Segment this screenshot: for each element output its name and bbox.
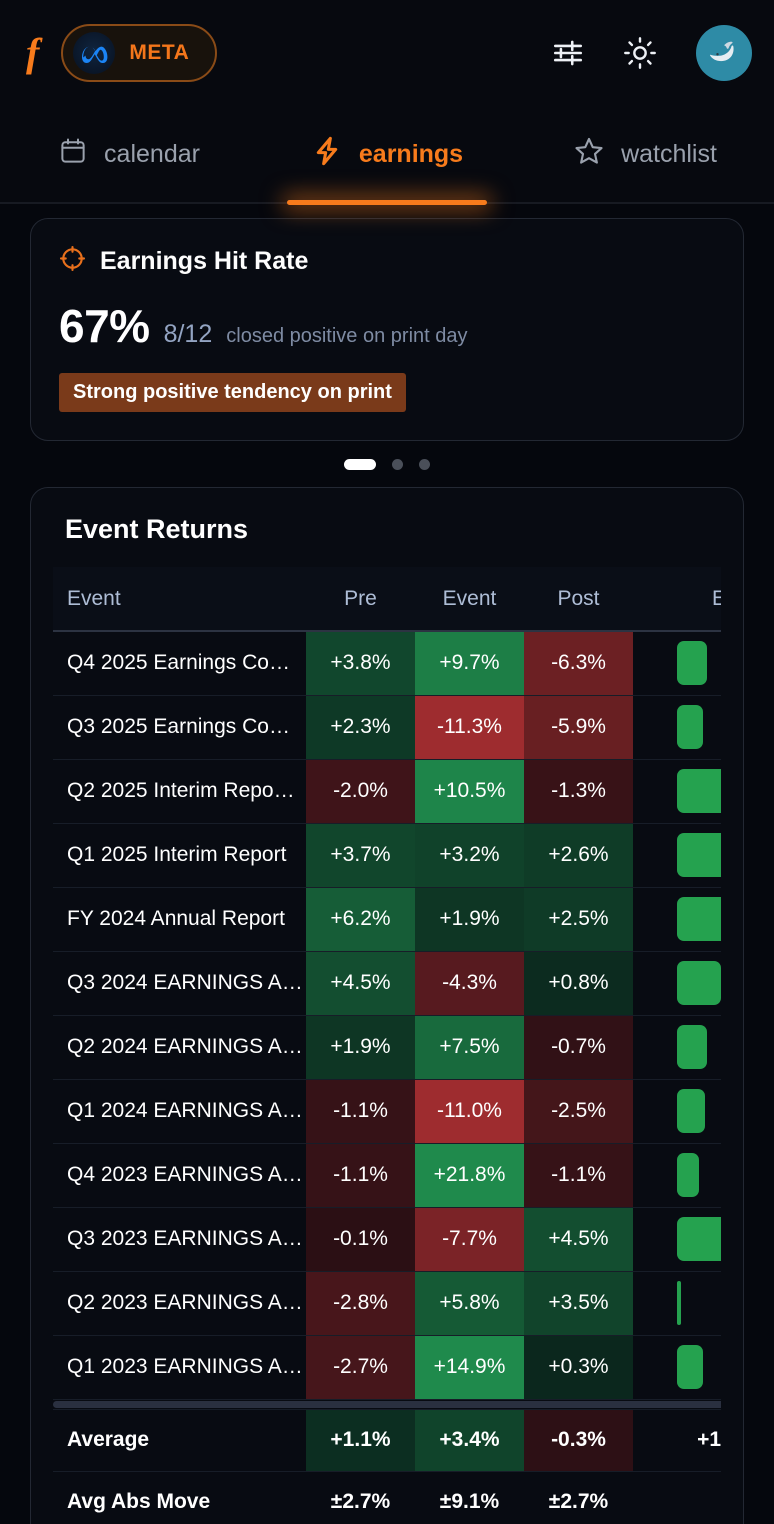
cell-post: -1.1% [524, 1143, 633, 1207]
cell-event-name: Q3 2023 EARNINGS A… [53, 1207, 306, 1271]
cell-pre: +1.9% [306, 1015, 415, 1079]
cell-event-return: +3.2% [415, 823, 524, 887]
col-header-event[interactable]: Event [53, 567, 306, 631]
horizontal-scrollbar-thumb[interactable] [53, 1401, 721, 1408]
cell-post: +0.3% [524, 1335, 633, 1399]
table-row[interactable]: Q2 2023 EARNINGS A…-2.8%+5.8%+3.5% [53, 1271, 721, 1335]
eps-bar [677, 1345, 703, 1389]
cell-post: +4.5% [524, 1207, 633, 1271]
cell-pre: -1.1% [306, 1079, 415, 1143]
cell-event-return: -4.3% [415, 951, 524, 1015]
cell-event-return: -11.3% [415, 695, 524, 759]
carousel-dot-1[interactable] [344, 459, 376, 470]
target-crosshair-icon [59, 245, 86, 277]
cell-event-return: +5.8% [415, 1271, 524, 1335]
cell-eps-bar [633, 951, 721, 1015]
col-header-eps[interactable]: EPS [633, 567, 721, 631]
cell-event-name: Q4 2023 EARNINGS A… [53, 1143, 306, 1207]
cell-event-return: -11.0% [415, 1079, 524, 1143]
cell-eps-bar [633, 1207, 721, 1271]
cell-eps-bar [633, 1079, 721, 1143]
eps-bar [677, 769, 721, 813]
carousel-dots [30, 441, 744, 487]
main-content: Earnings Hit Rate 67% 8/12 closed positi… [0, 204, 774, 1524]
summary-event-return: ±9.1% [415, 1471, 524, 1524]
horizontal-scrollbar[interactable] [53, 1399, 721, 1409]
cell-post: +3.5% [524, 1271, 633, 1335]
table-row[interactable]: Q3 2023 EARNINGS A…-0.1%-7.7%+4.5% [53, 1207, 721, 1271]
cell-post: -2.5% [524, 1079, 633, 1143]
hit-rate-stat-row: 67% 8/12 closed positive on print day [59, 299, 715, 353]
summary-post: -0.3% [524, 1409, 633, 1471]
table-row[interactable]: Q4 2023 EARNINGS A…-1.1%+21.8%-1.1% [53, 1143, 721, 1207]
cell-event-return: +7.5% [415, 1015, 524, 1079]
cell-event-name: Q2 2023 EARNINGS A… [53, 1271, 306, 1335]
cell-pre: -0.1% [306, 1207, 415, 1271]
cell-event-return: +21.8% [415, 1143, 524, 1207]
sun-icon[interactable] [620, 33, 660, 73]
cell-event-return: +14.9% [415, 1335, 524, 1399]
meta-infinity-icon [73, 32, 115, 74]
tab-earnings[interactable]: earnings [258, 106, 516, 202]
table-scroll-separator [53, 1399, 721, 1409]
summary-eps: +12.6% [633, 1409, 721, 1471]
cell-eps-bar [633, 759, 721, 823]
summary-post: ±2.7% [524, 1471, 633, 1524]
hit-rate-description: closed positive on print day [226, 325, 467, 348]
col-header-pre[interactable]: Pre [306, 567, 415, 631]
cell-event-name: Q1 2024 EARNINGS A… [53, 1079, 306, 1143]
table-row[interactable]: Q3 2024 EARNINGS A…+4.5%-4.3%+0.8% [53, 951, 721, 1015]
cell-eps-bar [633, 695, 721, 759]
whale-avatar-icon[interactable] [696, 25, 752, 81]
cell-eps-bar [633, 631, 721, 695]
tab-watchlist-label: watchlist [621, 142, 717, 167]
cell-event-return: +10.5% [415, 759, 524, 823]
hit-rate-title-row: Earnings Hit Rate [59, 245, 715, 277]
eps-bar [677, 1281, 681, 1325]
hit-rate-percent: 67% [59, 299, 150, 353]
sliders-icon[interactable] [548, 33, 588, 73]
summary-row: Average+1.1%+3.4%-0.3%+12.6% [53, 1409, 721, 1471]
summary-label: Average [53, 1409, 306, 1471]
summary-pre: ±2.7% [306, 1471, 415, 1524]
cell-pre: -2.8% [306, 1271, 415, 1335]
cell-eps-bar [633, 1143, 721, 1207]
cell-event-return: -7.7% [415, 1207, 524, 1271]
star-icon [573, 135, 605, 174]
cell-event-name: FY 2024 Annual Report [53, 887, 306, 951]
top-bar: f META [0, 0, 774, 106]
cell-post: -0.7% [524, 1015, 633, 1079]
cell-event-name: Q1 2023 EARNINGS A… [53, 1335, 306, 1399]
table-row[interactable]: Q2 2024 EARNINGS A…+1.9%+7.5%-0.7% [53, 1015, 721, 1079]
cell-event-name: Q4 2025 Earnings Co… [53, 631, 306, 695]
tab-calendar-label: calendar [104, 142, 200, 167]
cell-pre: -2.0% [306, 759, 415, 823]
hit-rate-fraction: 8/12 [164, 320, 213, 349]
lightning-bolt-icon [311, 135, 343, 174]
cell-pre: +3.8% [306, 631, 415, 695]
table-row[interactable]: Q2 2025 Interim Repo…-2.0%+10.5%-1.3% [53, 759, 721, 823]
table-row[interactable]: Q4 2025 Earnings Co…+3.8%+9.7%-6.3% [53, 631, 721, 695]
event-returns-title: Event Returns [53, 514, 721, 545]
summary-pre: +1.1% [306, 1409, 415, 1471]
cell-event-name: Q3 2024 EARNINGS A… [53, 951, 306, 1015]
table-header-row: Event Pre Event Post EPS [53, 567, 721, 631]
tab-calendar[interactable]: calendar [0, 106, 258, 202]
eps-bar [677, 1217, 721, 1261]
cell-event-name: Q2 2025 Interim Repo… [53, 759, 306, 823]
app-logo-f[interactable]: f [26, 33, 39, 73]
summary-eps [633, 1471, 721, 1524]
ticker-selector-meta[interactable]: META [61, 24, 217, 82]
cell-event-return: +1.9% [415, 887, 524, 951]
eps-bar [677, 1089, 705, 1133]
cell-eps-bar [633, 823, 721, 887]
earnings-hit-rate-card[interactable]: Earnings Hit Rate 67% 8/12 closed positi… [30, 218, 744, 441]
table-row[interactable]: Q1 2024 EARNINGS A…-1.1%-11.0%-2.5% [53, 1079, 721, 1143]
cell-eps-bar [633, 887, 721, 951]
eps-bar [677, 1025, 707, 1069]
carousel-dot-2[interactable] [392, 459, 403, 470]
cell-post: -5.9% [524, 695, 633, 759]
cell-pre: +4.5% [306, 951, 415, 1015]
eps-bar [677, 641, 707, 685]
event-returns-table-viewport[interactable]: Event Pre Event Post EPS Q4 2025 Earning… [53, 567, 721, 1524]
eps-bar [677, 833, 721, 877]
ticker-symbol-label: META [129, 41, 189, 65]
eps-bar [677, 961, 721, 1005]
table-row[interactable]: Q1 2025 Interim Report+3.7%+3.2%+2.6% [53, 823, 721, 887]
summary-label: Avg Abs Move [53, 1471, 306, 1524]
event-returns-table: Event Pre Event Post EPS Q4 2025 Earning… [53, 567, 721, 1524]
cell-post: -1.3% [524, 759, 633, 823]
cell-event-name: Q3 2025 Earnings Co… [53, 695, 306, 759]
cell-post: +2.6% [524, 823, 633, 887]
cell-post: +2.5% [524, 887, 633, 951]
cell-eps-bar [633, 1015, 721, 1079]
cell-pre: +3.7% [306, 823, 415, 887]
cell-pre: -2.7% [306, 1335, 415, 1399]
table-row[interactable]: Q1 2023 EARNINGS A…-2.7%+14.9%+0.3% [53, 1335, 721, 1399]
cell-pre: +2.3% [306, 695, 415, 759]
cell-eps-bar [633, 1271, 721, 1335]
table-body: Q4 2025 Earnings Co…+3.8%+9.7%-6.3%Q3 20… [53, 631, 721, 1524]
topbar-actions [548, 25, 752, 81]
calendar-icon [58, 136, 88, 173]
eps-bar [677, 1153, 699, 1197]
event-returns-card: Event Returns Event Pre Event Post EPS Q… [30, 487, 744, 1524]
cell-post: -6.3% [524, 631, 633, 695]
eps-bar [677, 897, 721, 941]
col-header-event-ret[interactable]: Event [415, 567, 524, 631]
cell-pre: +6.2% [306, 887, 415, 951]
cell-event-name: Q1 2025 Interim Report [53, 823, 306, 887]
hit-rate-title: Earnings Hit Rate [100, 247, 308, 276]
summary-event-return: +3.4% [415, 1409, 524, 1471]
cell-eps-bar [633, 1335, 721, 1399]
cell-pre: -1.1% [306, 1143, 415, 1207]
tab-earnings-label: earnings [359, 142, 463, 167]
carousel-dot-3[interactable] [419, 459, 430, 470]
cell-event-return: +9.7% [415, 631, 524, 695]
col-header-post[interactable]: Post [524, 567, 633, 631]
eps-bar [677, 705, 703, 749]
tab-watchlist[interactable]: watchlist [516, 106, 774, 202]
table-header: Event Pre Event Post EPS [53, 567, 721, 631]
cell-event-name: Q2 2024 EARNINGS A… [53, 1015, 306, 1079]
table-row[interactable]: FY 2024 Annual Report+6.2%+1.9%+2.5% [53, 887, 721, 951]
table-row[interactable]: Q3 2025 Earnings Co…+2.3%-11.3%-5.9% [53, 695, 721, 759]
summary-row: Avg Abs Move±2.7%±9.1%±2.7% [53, 1471, 721, 1524]
hit-rate-badge: Strong positive tendency on print [59, 373, 406, 412]
tab-bar: calendar earnings watchlist [0, 106, 774, 202]
cell-post: +0.8% [524, 951, 633, 1015]
